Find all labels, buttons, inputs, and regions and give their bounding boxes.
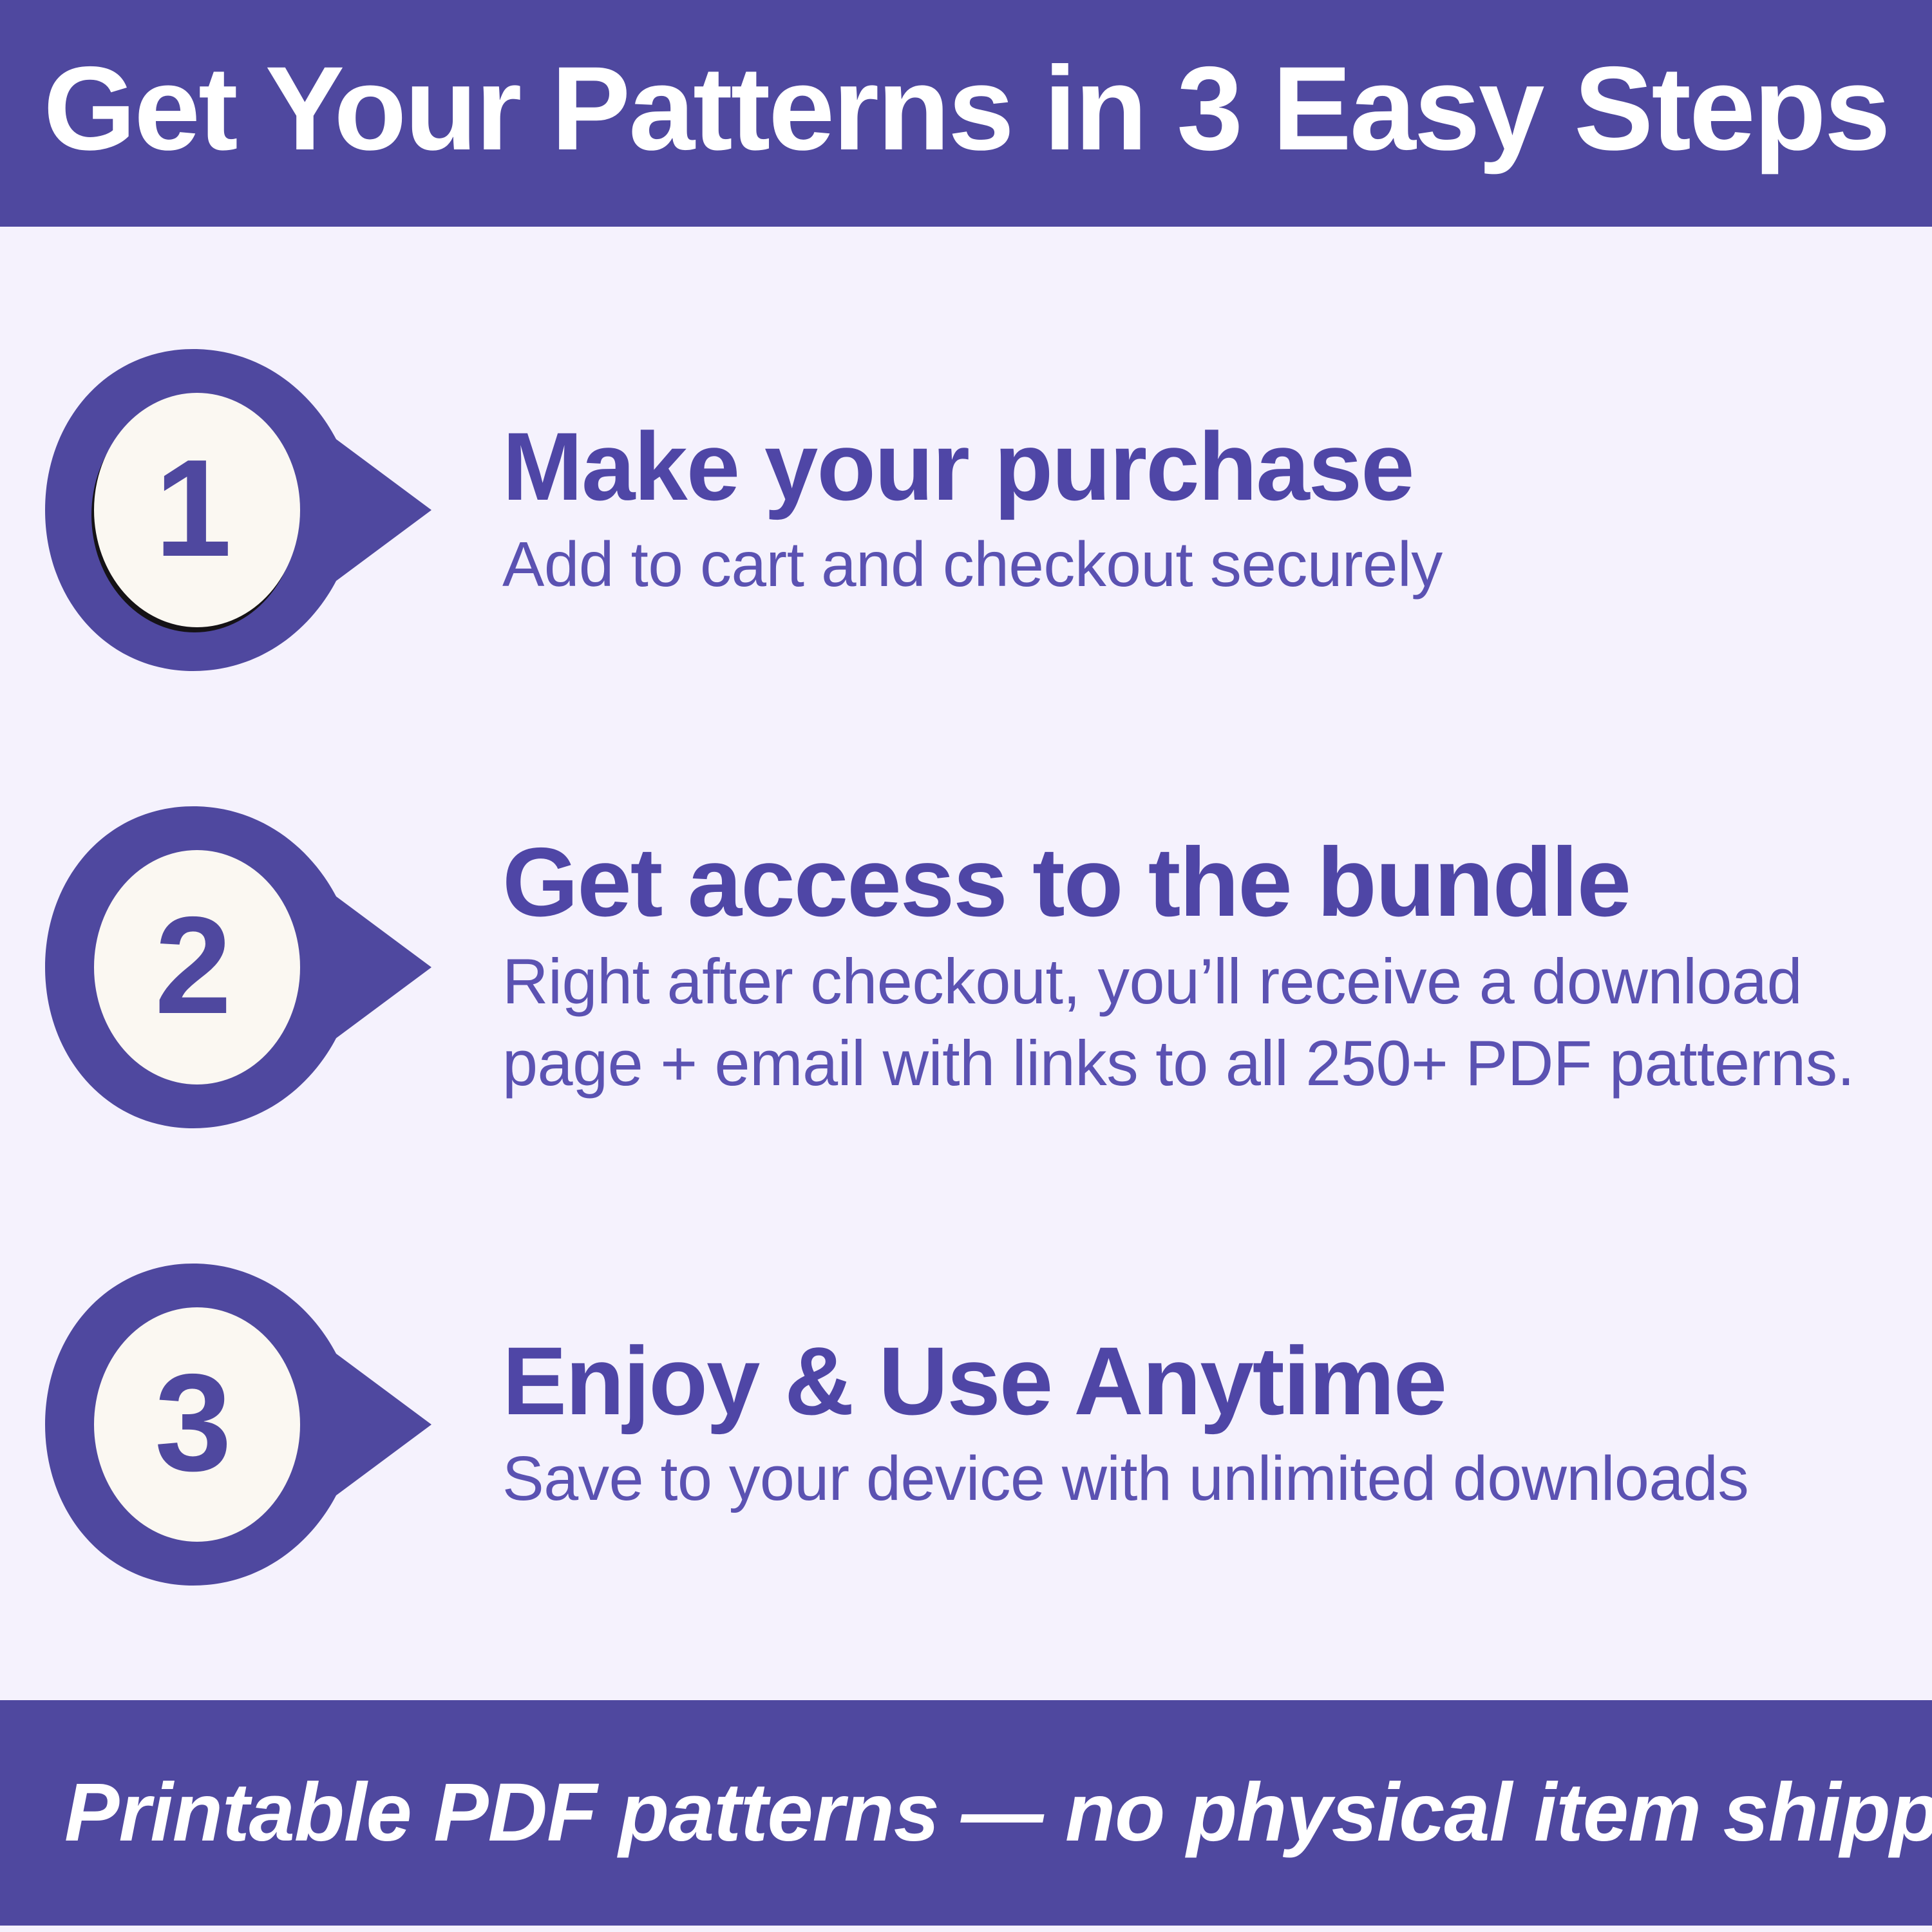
step-title-2: Get access to the bundle [502, 831, 1906, 934]
step-marker-2: 2 [45, 806, 470, 1128]
step-content-3: Enjoy & Use Anytime Save to your device … [502, 1330, 1932, 1519]
step-marker-1: 1 [45, 349, 470, 671]
step-title-3: Enjoy & Use Anytime [502, 1330, 1906, 1432]
steps-list: 1 Make your purchase Add to cart and che… [0, 227, 1932, 1700]
page-title: Get Your Patterns in 3 Easy Steps [43, 50, 1889, 178]
step-number-2: 2 [90, 806, 296, 1128]
step-number-3: 3 [90, 1264, 296, 1586]
step-number-1: 1 [90, 349, 296, 671]
step-description-2: Right after checkout, you’ll receive a d… [502, 941, 1906, 1104]
bottom-edge-strip [0, 1926, 1932, 1932]
footer-note: Printable PDF patterns — no physical ite… [0, 1772, 1932, 1854]
header-banner: Get Your Patterns in 3 Easy Steps [0, 0, 1932, 227]
step-item-3: 3 Enjoy & Use Anytime Save to your devic… [0, 1244, 1932, 1605]
step-title-1: Make your purchase [502, 415, 1906, 518]
step-description-1: Add to cart and checkout securely [502, 524, 1906, 605]
step-marker-3: 3 [45, 1264, 470, 1586]
step-item-1: 1 Make your purchase Add to cart and che… [0, 343, 1932, 677]
step-content-2: Get access to the bundle Right after che… [502, 831, 1932, 1104]
footer-banner: Printable PDF patterns — no physical ite… [0, 1700, 1932, 1926]
step-description-3: Save to your device with unlimited downl… [502, 1439, 1906, 1519]
step-item-2: 2 Get access to the bundle Right after c… [0, 774, 1932, 1160]
infographic-poster: Get Your Patterns in 3 Easy Steps 1 Make… [0, 0, 1932, 1932]
step-content-1: Make your purchase Add to cart and check… [502, 415, 1932, 605]
